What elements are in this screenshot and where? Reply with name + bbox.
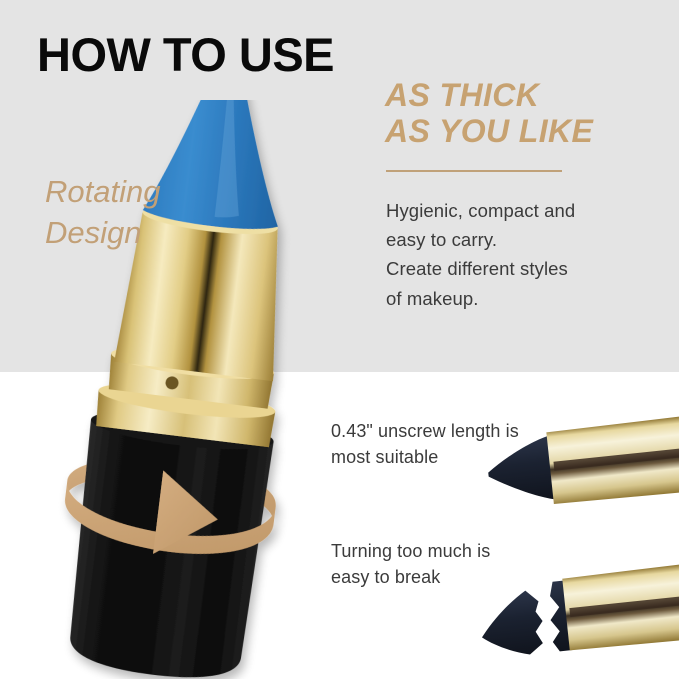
rotating-design-line-1: Rotating bbox=[45, 172, 160, 213]
gold-divider-rule bbox=[386, 170, 562, 172]
feature-body-line-2: easy to carry. bbox=[386, 225, 656, 254]
feature-body-line-1: Hygienic, compact and bbox=[386, 196, 656, 225]
note-over-turning-line-2: easy to break bbox=[331, 564, 490, 590]
feature-body-line-4: of makeup. bbox=[386, 284, 656, 313]
rotating-design-label: Rotating Design bbox=[45, 172, 160, 254]
feature-heading: AS THICK AS YOU LIKE bbox=[385, 78, 593, 150]
rotating-design-line-2: Design bbox=[45, 213, 160, 254]
note-unscrew-length-line-1: 0.43" unscrew length is bbox=[331, 418, 519, 444]
feature-body-copy: Hygienic, compact and easy to carry. Cre… bbox=[386, 196, 656, 313]
note-over-turning-line-1: Turning too much is bbox=[331, 538, 490, 564]
note-unscrew-length-line-2: most suitable bbox=[331, 444, 519, 470]
note-unscrew-length: 0.43" unscrew length is most suitable bbox=[331, 418, 519, 470]
feature-heading-line-1: AS THICK bbox=[385, 78, 593, 114]
note-over-turning: Turning too much is easy to break bbox=[331, 538, 490, 590]
feature-body-line-3: Create different styles bbox=[386, 254, 656, 283]
page-title: HOW TO USE bbox=[37, 30, 334, 79]
feature-heading-line-2: AS YOU LIKE bbox=[385, 114, 593, 150]
infographic-canvas: HOW TO USE Rotating Design AS THICK AS Y… bbox=[0, 0, 679, 679]
